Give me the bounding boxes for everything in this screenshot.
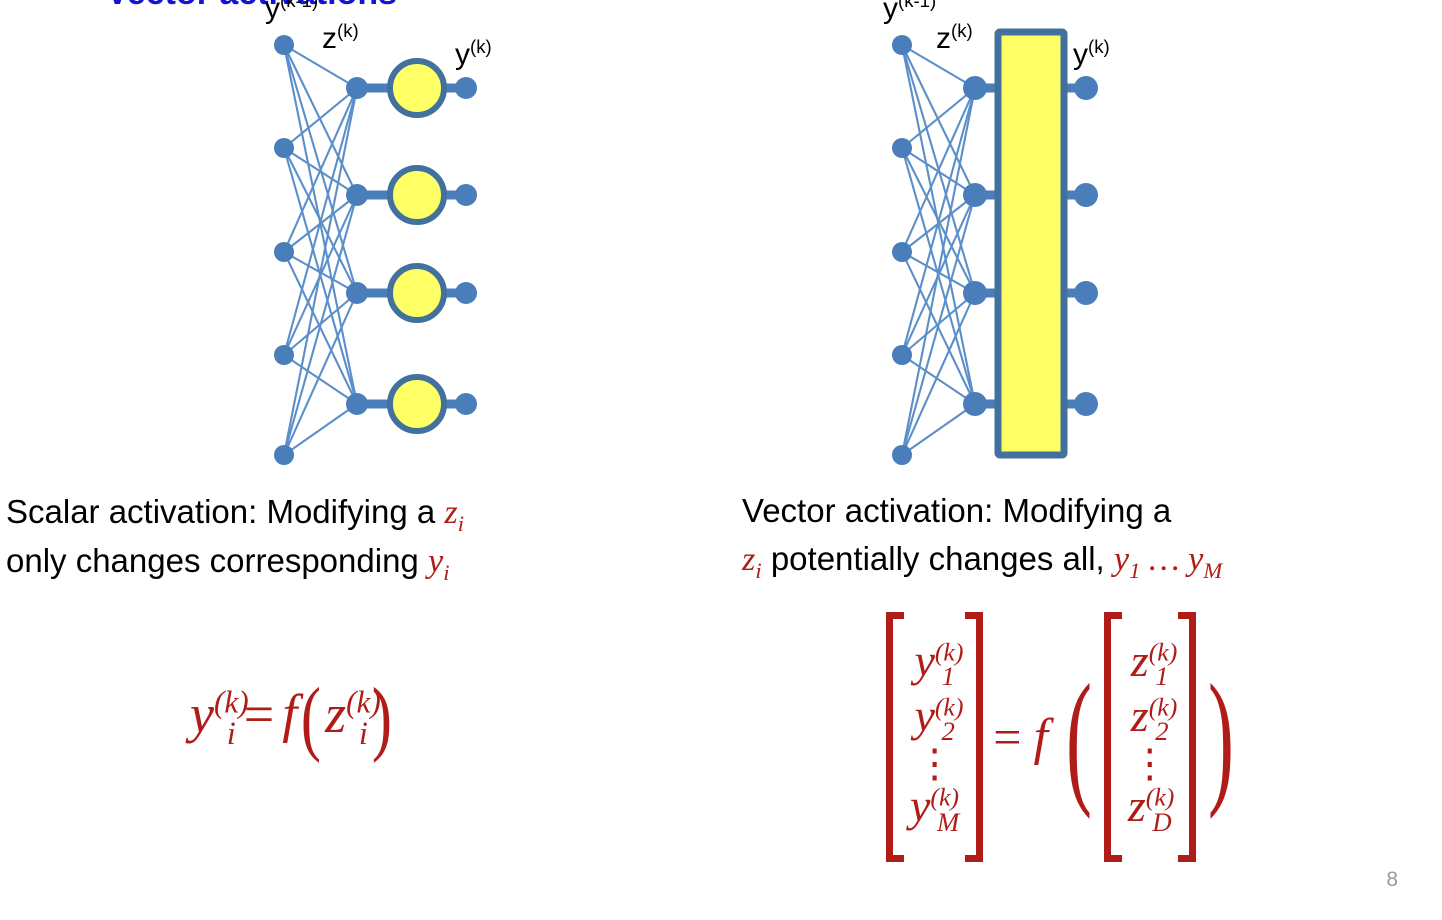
vector-eq-function: f: [1033, 708, 1047, 767]
scalar-activation-equation: y(k)i=f(z(k)i): [190, 676, 396, 760]
vector-input-label: y(k-1): [883, 0, 936, 24]
page-number: 8: [1386, 868, 1398, 892]
scalar-eq-lhs: y(k)i: [190, 684, 236, 744]
scalar-caption-line-1: Scalar activation: Modifying a zi: [6, 488, 464, 537]
vector-caption-ellipsis: …: [1140, 540, 1188, 578]
scalar-eq-close-paren: ): [372, 676, 392, 760]
vector-caption-z-var: zi: [742, 540, 762, 578]
vector-activation-block: [998, 32, 1064, 455]
scalar-network-svg: [0, 0, 560, 480]
scalar-caption-line-2: only changes corresponding yi: [6, 537, 464, 586]
rhs-vec-ellipsis: ⋮: [1130, 752, 1170, 776]
scalar-activation-units: [390, 61, 444, 431]
vector-preactivation-label-sup: (k): [951, 20, 973, 41]
rhs-vec-item-2: z(k)2: [1131, 693, 1169, 746]
scalar-eq-open-paren: (: [301, 676, 321, 760]
vector-caption-line-2: zi potentially changes all, y1 … yM: [742, 535, 1222, 584]
scalar-caption-z-var: zi: [444, 493, 464, 531]
rhs-vec-item-1: z(k)1: [1131, 638, 1169, 691]
scalar-preactivation-label: z(k): [322, 24, 359, 54]
scalar-input-label: y(k-1): [265, 0, 318, 24]
scalar-caption-line1-text: Scalar activation: Modifying a: [6, 493, 444, 530]
scalar-output-nodes: [455, 77, 477, 415]
scalar-caption-y-var: yi: [428, 542, 450, 580]
scalar-edges: [284, 45, 357, 455]
vector-activation-equation: y(k)1 y(k)2 ⋮ y(k)M = f ( z(k)1 z(k)2 ⋮ …: [886, 612, 1246, 862]
rhs-vec-item-d: z(k)D: [1128, 783, 1172, 836]
rhs-open-bracket: [1104, 612, 1124, 862]
vector-output-nodes: [1074, 76, 1098, 416]
scalar-preactivation-label-sup: (k): [337, 20, 359, 41]
vector-activation-diagram: y(k-1) z(k) y(k): [618, 0, 1178, 480]
vector-caption-line-1: Vector activation: Modifying a: [742, 488, 1222, 535]
scalar-input-nodes: [274, 35, 294, 465]
scalar-preactivation-label-base: z: [322, 22, 337, 55]
scalar-eq-equals: =: [244, 684, 274, 744]
scalar-input-label-sup: (k-1): [280, 0, 318, 11]
scalar-output-label: y(k): [455, 40, 492, 70]
slide-canvas: Vector activations: [0, 0, 1442, 920]
vector-caption-line2-text: potentially changes all,: [762, 540, 1114, 577]
scalar-caption-line2-text: only changes corresponding: [6, 542, 428, 579]
scalar-output-label-sup: (k): [470, 36, 492, 57]
vector-edges: [902, 45, 975, 455]
vector-caption-yM-var: yM: [1188, 540, 1222, 578]
vector-network-svg: [618, 0, 1178, 480]
rhs-column-vector: z(k)1 z(k)2 ⋮ z(k)D: [1124, 612, 1176, 862]
vector-caption-line1-text: Vector activation: Modifying a: [742, 492, 1171, 529]
scalar-output-label-base: y: [455, 38, 470, 71]
vector-output-label-base: y: [1073, 38, 1088, 71]
lhs-open-bracket: [886, 612, 906, 862]
lhs-vec-ellipsis: ⋮: [915, 752, 955, 776]
vector-input-label-base: y: [883, 0, 898, 25]
lhs-vec-item-m: y(k)M: [910, 783, 959, 836]
vector-input-nodes: [892, 35, 912, 465]
vector-preactivation-label: z(k): [936, 24, 973, 54]
scalar-eq-arg: z(k)i: [325, 684, 368, 744]
vector-output-label: y(k): [1073, 40, 1110, 70]
scalar-eq-function: f: [282, 684, 297, 744]
lhs-vec-item-2: y(k)2: [914, 693, 954, 746]
scalar-activation-diagram: y(k-1) z(k) y(k): [0, 0, 560, 480]
scalar-input-label-base: y: [265, 0, 280, 25]
vector-input-label-sup: (k-1): [898, 0, 936, 11]
vector-eq-equals: =: [993, 708, 1021, 766]
scalar-activation-caption: Scalar activation: Modifying a zi only c…: [6, 488, 464, 585]
lhs-close-bracket: [963, 612, 983, 862]
vector-eq-close-paren: ): [1208, 691, 1234, 784]
vector-eq-open-paren: (: [1066, 691, 1092, 784]
lhs-column-vector: y(k)1 y(k)2 ⋮ y(k)M: [906, 612, 963, 862]
rhs-close-bracket: [1176, 612, 1196, 862]
vector-preactivation-label-base: z: [936, 22, 951, 55]
vector-activation-caption: Vector activation: Modifying a zi potent…: [742, 488, 1222, 584]
vector-output-label-sup: (k): [1088, 36, 1110, 57]
vector-caption-y1-var: y1: [1114, 540, 1141, 578]
lhs-vec-item-1: y(k)1: [914, 638, 954, 691]
scalar-connectors: [357, 88, 466, 404]
